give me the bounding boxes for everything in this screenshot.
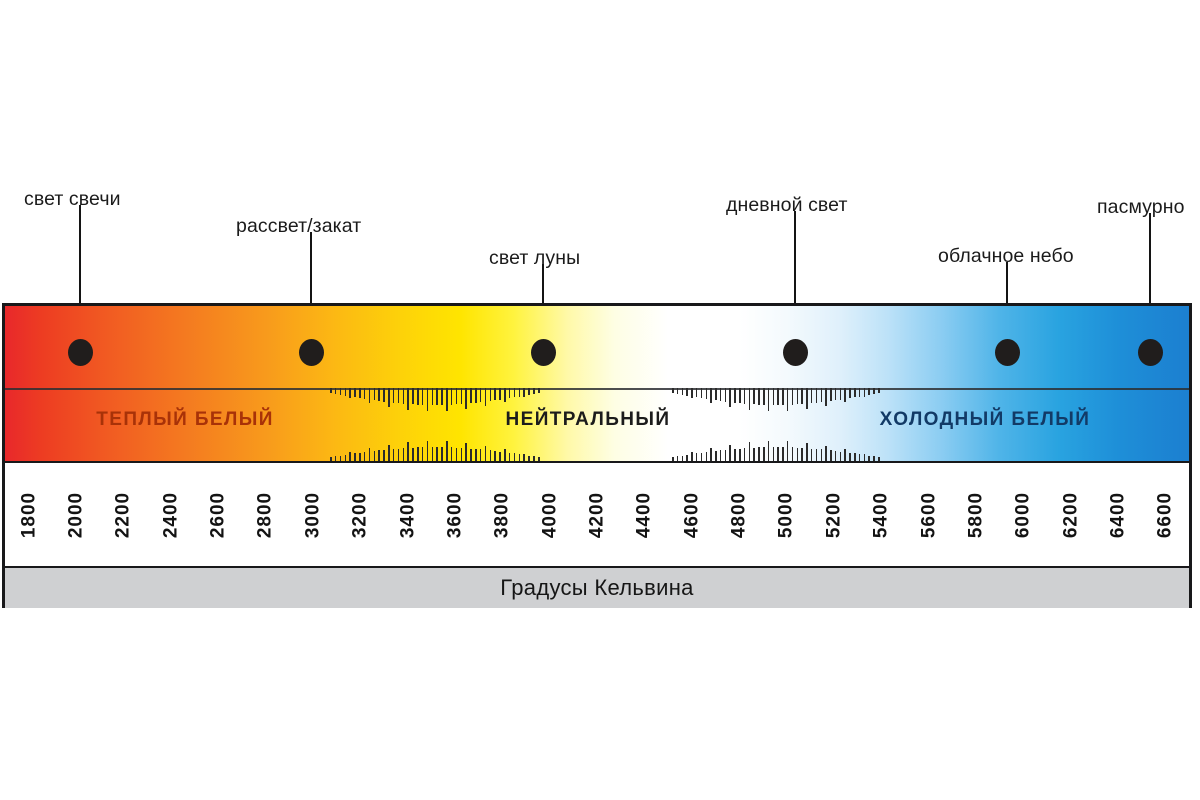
- kelvin-tick-label-3800: 3800: [493, 491, 512, 537]
- tick-mark: [432, 447, 434, 461]
- tick-mark: [364, 452, 366, 461]
- tick-mark: [427, 441, 429, 461]
- tick-mark: [369, 388, 371, 403]
- tick-mark: [514, 453, 516, 461]
- tick-mark: [710, 388, 712, 403]
- tick-mark: [734, 388, 736, 403]
- tick-mark: [475, 388, 477, 403]
- tick-mark: [349, 388, 351, 398]
- tick-mark: [821, 449, 823, 461]
- tick-mark: [374, 451, 376, 461]
- tick-mark: [533, 388, 535, 394]
- tick-mark: [393, 388, 395, 403]
- tick-mark: [519, 454, 521, 461]
- kelvin-tick-label-6600: 6600: [1156, 491, 1175, 537]
- tick-mark: [499, 388, 501, 400]
- tick-mark: [710, 448, 712, 461]
- color-temperature-diagram: свет свечирассвет/закатсвет луныдневной …: [0, 0, 1200, 800]
- tick-mark: [403, 448, 405, 461]
- tick-mark: [840, 388, 842, 400]
- caption-bar: Градусы Кельвина: [5, 566, 1189, 608]
- tick-mark: [422, 447, 424, 461]
- kelvin-tick-label-2000: 2000: [67, 491, 86, 537]
- tick-mark: [509, 453, 511, 461]
- tick-mark: [782, 388, 784, 405]
- tick-mark: [758, 388, 760, 405]
- tick-mark: [696, 453, 698, 461]
- marker-dot-2: [531, 339, 556, 366]
- kelvin-tick-label-5800: 5800: [966, 491, 985, 537]
- tick-mark: [739, 449, 741, 462]
- tick-mark: [514, 388, 516, 397]
- tick-mark: [753, 448, 755, 462]
- tick-mark: [859, 454, 861, 461]
- tick-mark: [504, 449, 506, 461]
- tick-mark: [494, 451, 496, 461]
- tick-mark: [485, 446, 487, 462]
- tick-mark: [864, 388, 866, 397]
- tick-mark: [422, 388, 424, 405]
- kelvin-tick-label-4400: 4400: [635, 491, 654, 537]
- kelvin-tick-label-5400: 5400: [872, 491, 891, 537]
- tick-mark: [456, 448, 458, 462]
- tick-mark: [744, 448, 746, 461]
- diagram-frame: ТЕПЛЫЙ БЕЛЫЙНЕЙТРАЛЬНЫЙХОЛОДНЫЙ БЕЛЫЙ 18…: [2, 303, 1192, 608]
- tick-mark: [844, 449, 846, 461]
- tick-mark: [412, 388, 414, 404]
- tick-mark: [538, 388, 540, 393]
- tick-mark: [744, 388, 746, 404]
- tick-mark: [825, 388, 827, 406]
- tick-mark: [436, 388, 438, 405]
- tick-mark: [446, 388, 448, 411]
- tick-mark: [672, 388, 674, 393]
- tick-mark: [749, 442, 751, 461]
- tick-mark: [835, 451, 837, 461]
- tick-mark: [801, 448, 803, 461]
- kelvin-tick-label-1800: 1800: [19, 491, 38, 537]
- kelvin-tick-label-3200: 3200: [351, 491, 370, 537]
- kelvin-tick-label-3000: 3000: [303, 491, 322, 537]
- tick-mark: [436, 447, 438, 461]
- tick-mark: [378, 450, 380, 461]
- tick-mark: [777, 447, 779, 461]
- tick-mark: [480, 449, 482, 461]
- marker-dot-0: [68, 339, 93, 366]
- kelvin-tick-label-6400: 6400: [1108, 491, 1127, 537]
- tick-mark: [490, 450, 492, 461]
- tick-mark: [412, 448, 414, 462]
- tick-mark: [345, 388, 347, 396]
- tick-mark: [403, 388, 405, 404]
- kelvin-scale-strip: 1800200022002400260028003000320034003600…: [5, 461, 1189, 566]
- marker-dot-5: [1138, 339, 1163, 366]
- tick-mark: [797, 448, 799, 462]
- tick-mark: [490, 388, 492, 401]
- kelvin-tick-label-4000: 4000: [540, 491, 559, 537]
- tick-mark: [758, 447, 760, 461]
- tick-mark: [725, 450, 727, 461]
- tick-group-1: [672, 388, 880, 461]
- tick-mark: [523, 454, 525, 462]
- kelvin-tick-label-3400: 3400: [398, 491, 417, 537]
- tick-mark: [792, 388, 794, 405]
- tick-mark: [830, 388, 832, 401]
- callout-label-1: рассвет/закат: [236, 217, 361, 237]
- tick-mark: [801, 388, 803, 404]
- tick-mark: [398, 388, 400, 403]
- tick-mark: [359, 453, 361, 461]
- tick-mark: [864, 454, 866, 462]
- tick-mark: [456, 388, 458, 404]
- tick-mark: [677, 388, 679, 394]
- tick-mark: [830, 450, 832, 461]
- tick-mark: [854, 388, 856, 397]
- callout-label-5: пасмурно: [1097, 198, 1185, 218]
- kelvin-tick-label-2800: 2800: [256, 491, 275, 537]
- tick-mark: [369, 448, 371, 461]
- caption-label: Градусы Кельвина: [500, 577, 693, 599]
- tick-mark: [806, 443, 808, 461]
- tick-mark: [821, 388, 823, 402]
- tick-mark: [451, 388, 453, 405]
- tick-mark: [407, 388, 409, 410]
- kelvin-tick-label-5000: 5000: [777, 491, 796, 537]
- kelvin-tick-label-3600: 3600: [445, 491, 464, 537]
- tick-mark: [374, 388, 376, 400]
- kelvin-tick-label-2400: 2400: [161, 491, 180, 537]
- tick-mark: [715, 388, 717, 400]
- kelvin-tick-label-4800: 4800: [730, 491, 749, 537]
- category-label-2: ХОЛОДНЫЙ БЕЛЫЙ: [880, 410, 1091, 429]
- tick-mark: [504, 388, 506, 402]
- tick-mark: [470, 449, 472, 462]
- tick-mark: [509, 388, 511, 398]
- tick-mark: [878, 388, 880, 393]
- tick-mark: [682, 388, 684, 395]
- tick-mark: [441, 447, 443, 461]
- tick-mark: [763, 388, 765, 405]
- tick-mark: [792, 447, 794, 461]
- gradient-fill: [5, 306, 1189, 461]
- kelvin-tick-label-6000: 6000: [1014, 491, 1033, 537]
- kelvin-tick-label-4600: 4600: [682, 491, 701, 537]
- tick-mark: [715, 451, 717, 461]
- tick-mark: [388, 445, 390, 461]
- tick-mark: [393, 449, 395, 461]
- tick-mark: [777, 388, 779, 405]
- tick-mark: [749, 388, 751, 410]
- tick-mark: [407, 442, 409, 461]
- tick-mark: [768, 388, 770, 411]
- tick-mark: [383, 450, 385, 461]
- marker-dot-1: [299, 339, 324, 366]
- marker-dot-3: [783, 339, 808, 366]
- callout-layer: свет свечирассвет/закатсвет луныдневной …: [0, 0, 1200, 310]
- category-label-0: ТЕПЛЫЙ БЕЛЫЙ: [96, 410, 274, 429]
- kelvin-tick-label-4200: 4200: [588, 491, 607, 537]
- tick-mark: [485, 388, 487, 406]
- tick-mark: [763, 447, 765, 461]
- tick-mark: [451, 447, 453, 461]
- kelvin-tick-label-6200: 6200: [1061, 491, 1080, 537]
- tick-mark: [378, 388, 380, 401]
- tick-mark: [470, 388, 472, 403]
- tick-mark: [773, 388, 775, 405]
- marker-dot-4: [995, 339, 1020, 366]
- tick-mark: [734, 449, 736, 461]
- tick-mark: [782, 447, 784, 461]
- tick-mark: [854, 453, 856, 461]
- callout-label-0: свет свечи: [24, 190, 121, 210]
- callout-label-3: дневной свет: [726, 196, 848, 216]
- tick-mark: [480, 388, 482, 402]
- kelvin-tick-label-2200: 2200: [114, 491, 133, 537]
- tick-mark: [787, 388, 789, 411]
- tick-mark: [691, 452, 693, 461]
- band-divider: [5, 388, 1189, 390]
- tick-mark: [840, 452, 842, 462]
- tick-mark: [388, 388, 390, 407]
- tick-mark: [720, 450, 722, 461]
- tick-mark: [849, 453, 851, 461]
- tick-mark: [706, 452, 708, 461]
- tick-mark: [523, 388, 525, 397]
- tick-mark: [816, 449, 818, 461]
- tick-mark: [519, 388, 521, 397]
- tick-mark: [417, 447, 419, 461]
- tick-mark: [691, 388, 693, 398]
- tick-mark: [340, 388, 342, 395]
- tick-mark: [465, 388, 467, 409]
- tick-mark: [811, 449, 813, 462]
- tick-mark: [461, 448, 463, 461]
- tick-mark: [335, 388, 337, 394]
- tick-mark: [398, 449, 400, 462]
- tick-mark: [528, 388, 530, 395]
- tick-mark: [701, 453, 703, 461]
- tick-mark: [729, 388, 731, 407]
- tick-mark: [753, 388, 755, 404]
- tick-mark: [811, 388, 813, 403]
- tick-mark: [354, 453, 356, 461]
- tick-mark: [806, 388, 808, 409]
- category-label-1: НЕЙТРАЛЬНЫЙ: [506, 410, 671, 429]
- tick-mark: [461, 388, 463, 404]
- tick-mark: [844, 388, 846, 402]
- tick-mark: [494, 388, 496, 400]
- tick-mark: [349, 452, 351, 461]
- tick-mark: [849, 388, 851, 398]
- tick-mark: [446, 441, 448, 461]
- tick-mark: [816, 388, 818, 403]
- tick-mark: [725, 388, 727, 402]
- tick-mark: [768, 441, 770, 461]
- tick-mark: [835, 388, 837, 400]
- tick-mark: [701, 388, 703, 398]
- tick-mark: [696, 388, 698, 397]
- tick-mark: [427, 388, 429, 411]
- tick-mark: [873, 388, 875, 394]
- tick-mark: [417, 388, 419, 405]
- kelvin-tick-label-5200: 5200: [824, 491, 843, 537]
- kelvin-tick-label-2600: 2600: [209, 491, 228, 537]
- tick-mark: [720, 388, 722, 401]
- tick-mark: [475, 449, 477, 461]
- tick-mark: [441, 388, 443, 405]
- tick-mark: [859, 388, 861, 397]
- tick-mark: [499, 452, 501, 462]
- tick-mark: [739, 388, 741, 403]
- tick-mark: [787, 441, 789, 461]
- tick-mark: [825, 446, 827, 462]
- tick-mark: [383, 388, 385, 402]
- callout-label-2: свет луны: [489, 249, 580, 269]
- tick-mark: [330, 388, 332, 393]
- tick-mark: [773, 447, 775, 461]
- tick-mark: [364, 388, 366, 399]
- tick-mark: [706, 388, 708, 399]
- tick-mark: [797, 388, 799, 404]
- kelvin-tick-label-5600: 5600: [919, 491, 938, 537]
- tick-mark: [359, 388, 361, 398]
- tick-mark: [432, 388, 434, 405]
- tick-mark: [465, 443, 467, 461]
- tick-mark: [686, 388, 688, 396]
- gradient-strip: ТЕПЛЫЙ БЕЛЫЙНЕЙТРАЛЬНЫЙХОЛОДНЫЙ БЕЛЫЙ: [5, 306, 1189, 461]
- tick-mark: [354, 388, 356, 397]
- tick-mark: [729, 445, 731, 461]
- tick-mark: [868, 388, 870, 395]
